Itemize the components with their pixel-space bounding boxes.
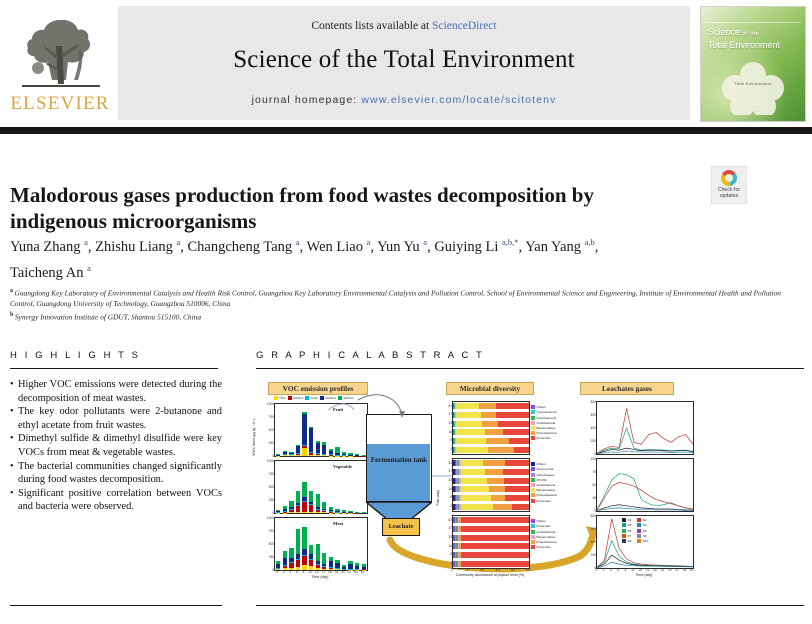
voc-bar-segment <box>316 453 320 455</box>
voc-bar-segment <box>276 561 280 564</box>
x-tick-label: 26 <box>327 570 334 574</box>
voc-bar-segment <box>289 452 293 453</box>
affiliation-marker: b <box>10 312 15 318</box>
y-tick-label: 0 <box>587 452 596 456</box>
crossmark-badge[interactable]: Check for updates <box>711 166 747 204</box>
voc-bar-segment <box>309 559 313 560</box>
voc-bar-segment <box>296 491 300 502</box>
legend-swatch <box>622 534 626 538</box>
voc-bar-segment <box>322 567 326 569</box>
mic-bar-segment <box>456 403 479 409</box>
legend-item: Firmicutes <box>531 524 557 529</box>
voc-legend: HCsSVOCsS-HsOVOCsVFOCs <box>274 395 370 401</box>
voc-bar-segment <box>289 452 293 454</box>
x-tick-label: 0 <box>593 568 599 572</box>
y-tick-label: 500 <box>266 428 274 432</box>
mic-bar-segment <box>456 438 486 444</box>
y-tick-label: 0 <box>266 568 274 572</box>
affiliation-line: b Synergy Innovation Institute of GDUT, … <box>10 310 805 323</box>
voc-x-axis-title: Time (day) <box>274 575 366 579</box>
author-name: Changcheng Tang a, <box>188 239 307 255</box>
legend-label: SVOCs <box>293 396 303 400</box>
y-tick-label: 1000 <box>266 459 274 463</box>
legend-label: S5 <box>628 529 632 533</box>
mic-bar-segment <box>461 469 485 475</box>
voc-bar-segment <box>296 554 300 559</box>
highlights-rule <box>10 368 218 369</box>
voc-bar-segment <box>316 561 320 564</box>
voc-bar-segment <box>348 453 352 454</box>
voc-bar-segment <box>309 453 313 455</box>
voc-bar-segment <box>335 455 339 456</box>
voc-bar-segment <box>322 509 326 510</box>
legend-item: Cyanobacteria <box>531 410 557 415</box>
voc-bar-segment <box>289 558 293 562</box>
voc-bar-segment <box>355 563 359 566</box>
legend-item: VFOCs <box>338 395 354 401</box>
x-tick-label: 40 <box>667 568 673 572</box>
legend-swatch <box>320 396 324 400</box>
mic-bar-segment <box>461 561 529 567</box>
legend-swatch <box>637 529 641 533</box>
mic-subplot: 6147331682 <box>452 401 530 455</box>
y-tick-label: 2 <box>445 447 452 451</box>
voc-bar-segment <box>342 454 346 455</box>
crossmark-ring-icon <box>721 170 737 186</box>
voc-bar-segment <box>335 453 339 455</box>
voc-bar-segment <box>283 455 287 456</box>
legend-swatch <box>531 535 535 539</box>
bullet-icon: • <box>10 432 18 459</box>
mic-bar-segment <box>503 429 529 435</box>
legend-item: Bacteroidetes <box>531 535 557 540</box>
y-tick-label: 50 <box>587 483 596 487</box>
graphical-abstract-heading: G R A P H I C A L A B S T R A C T <box>256 350 484 361</box>
y-tick-label: 2 <box>445 504 452 508</box>
voc-subplot: 02505007501000Fruit <box>274 403 368 457</box>
crossmark-line1: Check for <box>718 187 740 193</box>
y-tick-label: 250 <box>266 441 274 445</box>
legend-item: Firmicutes <box>531 545 557 550</box>
legend-item: Spirochaetes <box>531 472 557 477</box>
author-affiliation-marker: a <box>423 237 427 247</box>
mic-subplot: 6147331682 <box>452 515 530 569</box>
voc-bar-segment <box>276 510 280 511</box>
author-name: Zhishu Liang a, <box>95 239 187 255</box>
voc-bar-segment <box>276 564 280 568</box>
voc-bar-segment <box>329 451 333 454</box>
legend-label: S9 <box>628 539 632 543</box>
author-name: Yun Yu a, <box>377 239 434 255</box>
legend-swatch <box>531 493 535 497</box>
voc-bar-segment <box>283 558 287 564</box>
legend-item: S1 <box>622 518 631 523</box>
legend-swatch <box>622 523 626 527</box>
voc-bar-segment <box>296 505 300 506</box>
voc-bar-segment <box>348 511 352 512</box>
x-tick-label: 2 <box>600 568 606 572</box>
voc-bar-segment <box>309 545 313 554</box>
legend-label: Others <box>537 519 546 523</box>
legend-label: Firmicutes <box>537 545 551 549</box>
legend-label: OTU32 <box>537 478 547 482</box>
affiliation-line: a Guangdong Key Laboratory of Environmen… <box>10 286 805 310</box>
y-tick-label: 0 <box>266 511 274 515</box>
page-title: Malodorous gases production from food wa… <box>10 182 640 234</box>
voc-bar-segment <box>276 511 280 512</box>
voc-bar-segment <box>283 511 287 513</box>
voc-bar-segment <box>283 565 287 566</box>
contents-prefix-text: Contents lists available at <box>311 20 432 32</box>
voc-bar-segment <box>342 510 346 511</box>
x-tick-label: 12 <box>630 568 636 572</box>
voc-bar-segment <box>302 555 306 556</box>
x-tick-label: 61 <box>359 570 366 574</box>
voc-bar-segment <box>302 448 306 456</box>
voc-bar-segment <box>302 482 306 498</box>
voc-bar-segment <box>316 494 320 507</box>
lea-line-series <box>597 459 693 511</box>
voc-bar-segment <box>329 507 333 510</box>
legend-item: Firmicutes <box>531 436 557 441</box>
mic-bar-segment <box>504 478 529 484</box>
mic-bar-segment <box>456 421 482 427</box>
y-tick-label: 47 <box>445 469 452 473</box>
x-tick-label: 16 <box>313 570 320 574</box>
voc-bar-segment <box>342 567 346 569</box>
x-tick-label: 54 <box>353 570 360 574</box>
legend-item: HCs <box>274 395 286 401</box>
author-name: Guiying Li a,b,*, <box>434 239 525 255</box>
legend-swatch <box>622 529 626 533</box>
legend-item: S4 <box>637 523 648 528</box>
legend-item: Acidobacteria <box>531 529 557 534</box>
mic-bar-segment <box>479 403 496 409</box>
legend-swatch <box>531 478 535 482</box>
legend-item: Bacteroidetes <box>531 488 557 493</box>
legend-label: S4 <box>643 523 647 527</box>
voc-bar-segment <box>316 507 320 509</box>
voc-bar-segment <box>322 454 326 455</box>
voc-bar-segment <box>309 505 313 512</box>
lea-subplot: 0200400600800 <box>596 401 694 455</box>
legend-label: Proteobacteria <box>537 493 557 497</box>
legend-label: Firmicutes <box>537 436 551 440</box>
voc-bar-segment <box>302 527 306 549</box>
voc-bar-segment <box>309 512 313 513</box>
voc-bar-segment <box>342 455 346 456</box>
y-tick-label: 600 <box>587 413 596 417</box>
highlight-text: The bacterial communities changed signif… <box>18 460 222 487</box>
voc-bar-segment <box>335 447 339 453</box>
y-tick-label: 100 <box>587 457 596 461</box>
voc-bar-segment <box>283 454 287 455</box>
voc-bar-segment <box>322 510 326 512</box>
legend-item: OVOCs <box>320 395 336 401</box>
mic-subplot: 6147331682 <box>452 458 530 512</box>
voc-bar-segment <box>296 559 300 560</box>
voc-bar-segment <box>302 556 306 565</box>
voc-bar-segment <box>302 549 306 555</box>
journal-title: Science of the Total Environment <box>118 46 690 74</box>
mic-bar-segment <box>486 438 509 444</box>
legend-label: Actinobacteria <box>537 416 557 420</box>
highlight-item: •Dimethyl sulfide & dimethyl disulfide w… <box>10 432 222 459</box>
voc-bar-segment <box>296 506 300 512</box>
mic-bar-segment <box>488 447 514 453</box>
voc-bar-segment <box>348 561 352 565</box>
author-affiliation-marker: a <box>176 237 180 247</box>
y-tick-label: 400 <box>587 540 596 544</box>
legend-label: Acidobacteria <box>537 483 556 487</box>
leachates-gases-chart: 020040060080002550751000200400600800S1S2… <box>580 396 710 574</box>
voc-bar-segment <box>322 445 326 454</box>
mic-bar-segment <box>514 447 529 453</box>
microbial-diversity-chart: Time (day)6147331682OthersCyanobacteriaA… <box>440 396 572 574</box>
mic-bar-segment <box>509 438 529 444</box>
y-tick-label: 25 <box>587 496 596 500</box>
voc-bar-segment <box>296 455 300 456</box>
legend-label: S6 <box>643 529 647 533</box>
y-tick-label: 250 <box>266 498 274 502</box>
cover-title-line2: Total Environment <box>708 40 780 50</box>
journal-header-band: Contents lists available at ScienceDirec… <box>118 6 690 120</box>
legend-item: S8 <box>637 534 648 539</box>
voc-bar-segment <box>289 455 293 456</box>
y-tick-label: 750 <box>266 529 274 533</box>
y-tick-label: 8 <box>445 552 452 556</box>
voc-bar-segment <box>283 509 287 511</box>
mic-bar-segment <box>483 460 504 466</box>
y-tick-label: 8 <box>445 495 452 499</box>
y-tick-label: 500 <box>266 542 274 546</box>
y-tick-label: 2 <box>445 561 452 565</box>
x-tick-label: 100 <box>524 568 532 572</box>
graphical-abstract-rule <box>256 368 804 369</box>
cover-flower-graphic <box>721 59 785 115</box>
mic-bar-segment <box>461 486 490 492</box>
y-tick-label: 47 <box>445 412 452 416</box>
voc-bar-segment <box>289 454 293 455</box>
voc-bar-segment <box>309 504 313 505</box>
tank-liquid <box>367 444 430 501</box>
affiliation-marker: a <box>10 288 15 294</box>
mic-legend: OthersAscomycotaSpirochaetesOTU32Acidoba… <box>531 462 557 504</box>
leachate-panel-label: Leachates gases <box>580 382 674 395</box>
x-tick-label: 6 <box>294 570 301 574</box>
mic-bar-segment <box>485 469 503 475</box>
legend-swatch <box>531 436 535 440</box>
voc-bar-segment <box>316 564 320 565</box>
author-affiliation-marker: a <box>367 237 371 247</box>
mic-bar-segment <box>461 478 488 484</box>
voc-bar-segment <box>322 455 326 456</box>
voc-bar-segment <box>302 414 306 445</box>
y-tick-label: 500 <box>266 485 274 489</box>
highlight-item: •The key odor pollutants were 2-butanone… <box>10 405 222 432</box>
legend-label: Spirochaetes <box>537 473 555 477</box>
voc-bar-segment <box>329 568 333 569</box>
highlight-text: Dimethyl sulfide & dimethyl disulfide we… <box>18 432 222 459</box>
y-tick-label: 1000 <box>266 402 274 406</box>
y-tick-label: 61 <box>445 518 452 522</box>
voc-bar-segment <box>329 511 333 512</box>
legend-swatch <box>274 396 278 400</box>
legend-label: S-Hs <box>311 396 318 400</box>
voc-bar-segment <box>322 564 326 567</box>
voc-bar-segment <box>355 454 359 455</box>
legend-item: Others <box>531 462 557 467</box>
voc-bar-segment <box>283 506 287 509</box>
author-list: Yuna Zhang a, Zhishu Liang a, Changcheng… <box>10 232 650 284</box>
mic-bar-segment <box>491 495 505 501</box>
legend-swatch <box>531 524 535 528</box>
legend-swatch <box>531 431 535 435</box>
voc-bar-segment <box>362 564 366 567</box>
x-tick-label: 61 <box>689 568 695 572</box>
highlight-text: The key odor pollutants were 2-butanone … <box>18 405 222 432</box>
legend-swatch <box>531 530 535 534</box>
voc-subplot-label: Vegetable <box>333 464 352 469</box>
highlight-text: Higher VOC emissions were detected durin… <box>18 378 222 405</box>
voc-bar-segment <box>309 554 313 559</box>
voc-bar-segment <box>283 565 287 568</box>
mic-bar-segment <box>461 504 493 510</box>
legend-swatch <box>531 483 535 487</box>
x-tick-label: 60 <box>494 568 502 572</box>
legend-swatch <box>531 519 535 523</box>
legend-item: S7 <box>622 534 631 539</box>
y-tick-label: 750 <box>266 472 274 476</box>
highlight-item: •Significant positive correlation betwee… <box>10 487 222 514</box>
voc-bar-segment <box>289 512 293 513</box>
x-tick-label: 40 <box>340 570 347 574</box>
legend-label: Cyanobacteria <box>537 410 557 414</box>
highlights-list: •Higher VOC emissions were detected duri… <box>10 378 222 514</box>
legend-swatch <box>338 396 342 400</box>
mic-bar-segment <box>489 486 504 492</box>
x-tick-label: 47 <box>674 568 680 572</box>
legend-label: Acidobacteria <box>537 421 556 425</box>
legend-label: OVOCs <box>325 396 336 400</box>
legend-swatch <box>531 467 535 471</box>
author-name: Yuna Zhang a, <box>10 239 95 255</box>
x-tick-label: 20 <box>463 568 471 572</box>
mic-bar-segment <box>461 460 484 466</box>
legend-swatch <box>637 518 641 522</box>
crossmark-label: Check for updates <box>712 187 746 200</box>
mic-bar-segment <box>496 412 529 418</box>
y-tick-label: 600 <box>587 527 596 531</box>
voc-bar-segment <box>355 455 359 456</box>
voc-bar-segment <box>289 509 293 512</box>
mic-y-axis-title: Time (day) <box>436 490 440 506</box>
mic-bar-segment <box>496 403 529 409</box>
voc-bar-segment <box>329 449 333 451</box>
legend-swatch <box>622 518 626 522</box>
voc-bar-segment <box>329 510 333 511</box>
mic-bar-segment <box>461 543 529 549</box>
voc-subplot-label: Meat <box>333 521 343 526</box>
cover-title-small: of the <box>743 31 760 37</box>
journal-cover-image: Science of the Total Environment Total E… <box>700 6 806 122</box>
legend-swatch <box>531 426 535 430</box>
legend-label: Ascomycota <box>537 467 554 471</box>
voc-bar-segment <box>302 497 306 500</box>
voc-bar-segment <box>289 507 293 509</box>
bullet-icon: • <box>10 405 18 432</box>
x-tick-label: 12 <box>307 570 314 574</box>
y-tick-label: 200 <box>587 439 596 443</box>
voc-bar-segment <box>329 455 333 456</box>
voc-bar-segment <box>309 560 313 566</box>
highlights-heading: H I G H L I G H T S <box>10 350 141 361</box>
legend-item: S6 <box>637 528 648 533</box>
voc-bar-segment <box>322 502 326 509</box>
legend-swatch <box>622 539 626 543</box>
author-affiliation-marker: a,b,* <box>502 237 519 247</box>
voc-bar-segment <box>296 512 300 513</box>
y-tick-label: 33 <box>445 478 452 482</box>
voc-bar-segment <box>348 455 352 456</box>
legend-item: OTU32 <box>531 478 557 483</box>
mic-bar-segment <box>481 412 496 418</box>
cover-caption: Total Environment <box>701 81 805 86</box>
mic-bar-segment <box>503 469 529 475</box>
author-name: Yan Yang a,b, <box>525 239 598 255</box>
legend-label: Bacteroidetes <box>537 426 556 430</box>
legend-item: Others <box>531 519 557 524</box>
y-tick-label: 400 <box>587 426 596 430</box>
leachate-box: Leachate <box>382 518 420 536</box>
mic-legend: OthersFirmicutesAcidobacteriaBacteroidet… <box>531 519 557 550</box>
voc-bar-segment <box>289 501 293 507</box>
voc-bar-segment <box>309 455 313 456</box>
mic-bar-segment <box>456 447 488 453</box>
voc-bar-segment <box>316 544 320 561</box>
legend-item: Ascomycota <box>531 467 557 472</box>
voc-bar-segment <box>342 452 346 454</box>
voc-bar-segment <box>283 451 287 452</box>
legend-item: S-Hs <box>305 395 317 401</box>
legend-item: Others <box>531 405 557 410</box>
voc-bar-segment <box>276 455 280 456</box>
graphical-abstract-bottom-rule <box>256 605 804 606</box>
x-tick-label: 33 <box>659 568 665 572</box>
legend-label: S3 <box>628 523 632 527</box>
voc-bar-segment <box>316 565 320 568</box>
mic-x-axis-title: Community abundance at phylum level (%) <box>440 573 540 577</box>
voc-bar-segment <box>335 512 339 513</box>
lea-legend: S1S2S3S4S5S6S7S8S9S10 <box>622 518 648 544</box>
journal-homepage-link[interactable]: www.elsevier.com/locate/scitotenv <box>361 94 556 106</box>
legend-swatch <box>531 462 535 466</box>
highlight-item: •The bacterial communities changed signi… <box>10 460 222 487</box>
legend-swatch <box>637 534 641 538</box>
legend-label: Others <box>537 462 546 466</box>
y-tick-label: 16 <box>445 487 452 491</box>
mic-bar-segment <box>487 478 504 484</box>
legend-item: Proteobacteria <box>531 540 557 545</box>
elsevier-wordmark: ELSEVIER <box>8 93 112 115</box>
sciencedirect-link[interactable]: ScienceDirect <box>432 20 497 32</box>
legend-item: S10 <box>637 539 648 544</box>
voc-bar-segment <box>348 564 352 569</box>
voc-bar-segment <box>296 503 300 506</box>
legend-swatch <box>531 540 535 544</box>
mic-bar-segment <box>456 429 485 435</box>
x-tick-label: 6 <box>615 568 621 572</box>
